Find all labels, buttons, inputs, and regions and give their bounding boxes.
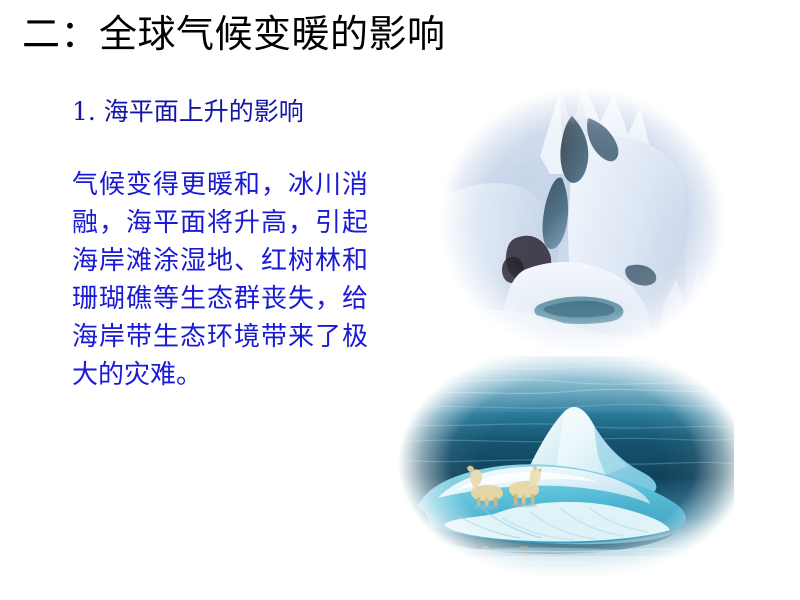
polar-bears-illustration (398, 356, 734, 578)
polar-bears-photo-art (398, 356, 734, 578)
section-subheading: 1. 海平面上升的影响 (72, 96, 372, 128)
glacier-photo-art (432, 82, 732, 360)
text-column: 1. 海平面上升的影响 气候变得更暖和，冰川消融，海平面将升高，引起海岸滩涂湿地… (72, 96, 372, 394)
polar-bears-on-iceberg-photo (398, 356, 734, 578)
glacier-illustration (432, 82, 732, 360)
slide-canvas: 二：全球气候变暖的影响 1. 海平面上升的影响 气候变得更暖和，冰川消融，海平面… (0, 0, 800, 600)
body-paragraph: 气候变得更暖和，冰川消融，海平面将升高，引起海岸滩涂湿地、红树林和珊瑚礁等生态群… (72, 166, 368, 394)
glacier-ice-cliff-photo (432, 82, 732, 360)
page-title: 二：全球气候变暖的影响 (22, 12, 762, 56)
